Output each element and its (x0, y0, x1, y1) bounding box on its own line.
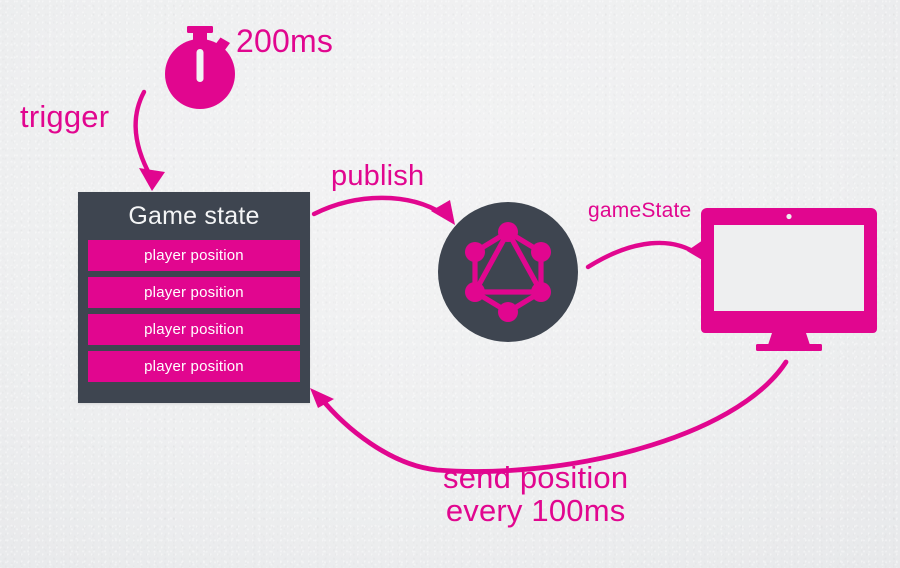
game-state-panel: Game state player position player positi… (78, 192, 310, 403)
arrowhead-send-position (310, 388, 334, 408)
graphql-server-node (438, 202, 578, 342)
trigger-label: trigger (20, 100, 109, 133)
player-position-row: player position (88, 314, 300, 345)
player-position-row: player position (88, 351, 300, 382)
timer-interval-label: 200ms (236, 24, 333, 59)
arrow-send-position (320, 362, 786, 472)
diagram-canvas: 200ms trigger Game state player position… (0, 0, 900, 568)
graphql-logo-icon (438, 202, 578, 342)
player-position-row: player position (88, 240, 300, 271)
gamestate-field-label: gameState (588, 200, 691, 223)
arrow-trigger (136, 92, 151, 177)
send-position-line2: every 100ms (443, 494, 628, 527)
game-state-title: Game state (88, 198, 300, 234)
stopwatch-icon (160, 24, 242, 110)
arrowhead-trigger (139, 168, 165, 191)
send-position-line1: send position (443, 460, 628, 495)
arrow-publish (314, 198, 443, 214)
player-position-row: player position (88, 277, 300, 308)
monitor-icon (700, 205, 878, 351)
send-position-label: send position every 100ms (443, 461, 628, 528)
publish-label: publish (331, 161, 424, 192)
arrow-gamestate (588, 243, 699, 267)
